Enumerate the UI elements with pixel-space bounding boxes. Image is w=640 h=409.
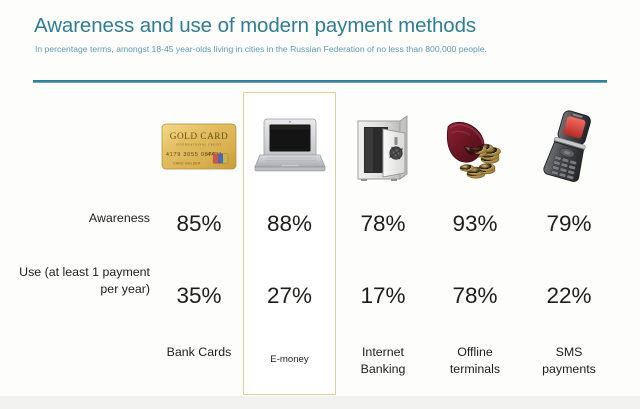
page-title: Awareness and use of modern payment meth… bbox=[34, 14, 476, 38]
name-cell: E-money bbox=[244, 342, 335, 392]
value-cell-use: 78% bbox=[430, 272, 520, 320]
value-use-bank-cards: 35% bbox=[156, 272, 242, 320]
column-offline-terminals: 93% 78% Offline terminals bbox=[430, 92, 520, 395]
value-use-internet-banking: 17% bbox=[339, 272, 427, 320]
value-use-e-money: 27% bbox=[244, 272, 335, 320]
column-label-sms-payments: SMS payments bbox=[522, 342, 616, 377]
coin-purse-icon bbox=[430, 100, 520, 192]
value-awareness-offline-terminals: 93% bbox=[430, 200, 520, 248]
value-cell-use: 27% bbox=[244, 272, 335, 320]
safe-vault-icon bbox=[339, 100, 427, 192]
name-cell: Bank Cards bbox=[156, 342, 242, 392]
value-cell-awareness: 78% bbox=[339, 200, 427, 248]
value-cell-use: 17% bbox=[339, 272, 427, 320]
column-label-internet-banking: Internet Banking bbox=[339, 342, 427, 377]
bottom-band bbox=[0, 396, 640, 409]
column-e-money: 88% 27% E-money bbox=[244, 92, 335, 395]
value-cell-awareness: 85% bbox=[156, 200, 242, 248]
column-sms-payments: 79% 22% SMS payments bbox=[522, 92, 616, 395]
icon-cell bbox=[522, 100, 616, 192]
flip-phone-icon bbox=[522, 100, 616, 192]
value-cell-use: 35% bbox=[156, 272, 242, 320]
value-use-sms-payments: 22% bbox=[522, 272, 616, 320]
value-awareness-internet-banking: 78% bbox=[339, 200, 427, 248]
value-awareness-bank-cards: 85% bbox=[156, 200, 242, 248]
gold-credit-card-icon: GOLD CARD INTERNATIONAL CREDIT 4179 3055… bbox=[156, 100, 242, 192]
header-divider bbox=[33, 80, 607, 83]
comparison-grid: Awareness Use (at least 1 payment per ye… bbox=[0, 92, 640, 395]
column-label-bank-cards: Bank Cards bbox=[156, 342, 242, 361]
value-cell-awareness: 79% bbox=[522, 200, 616, 248]
value-cell-awareness: 88% bbox=[244, 200, 335, 248]
row-label-awareness: Awareness bbox=[8, 210, 150, 227]
column-label-line1: Bank Cards bbox=[167, 345, 232, 359]
column-label-line1: SMS bbox=[556, 345, 583, 359]
value-cell-awareness: 93% bbox=[430, 200, 520, 248]
column-label-line1: Internet bbox=[362, 345, 404, 359]
column-label-line2: Banking bbox=[361, 362, 406, 376]
icon-cell bbox=[244, 100, 335, 192]
row-label-column: Awareness Use (at least 1 payment per ye… bbox=[8, 92, 156, 395]
column-label-line2: terminals bbox=[450, 362, 500, 376]
column-bank-cards: GOLD CARD INTERNATIONAL CREDIT 4179 3055… bbox=[156, 92, 242, 395]
name-cell: SMS payments bbox=[522, 342, 616, 392]
svg-text:CARD HOLDER: CARD HOLDER bbox=[173, 162, 201, 166]
value-awareness-e-money: 88% bbox=[244, 200, 335, 248]
svg-text:INTERNATIONAL CREDIT: INTERNATIONAL CREDIT bbox=[176, 143, 222, 147]
laptop-icon bbox=[244, 100, 335, 192]
column-label-line2: payments bbox=[542, 362, 596, 376]
slide-canvas: Awareness and use of modern payment meth… bbox=[0, 0, 640, 409]
column-internet-banking: 78% 17% Internet Banking bbox=[339, 92, 427, 395]
value-use-offline-terminals: 78% bbox=[430, 272, 520, 320]
icon-cell bbox=[339, 100, 427, 192]
column-label-line1: Offline bbox=[457, 345, 493, 359]
row-label-use: Use (at least 1 payment per year) bbox=[8, 264, 150, 297]
svg-text:GOLD CARD: GOLD CARD bbox=[170, 132, 228, 142]
name-cell: Offline terminals bbox=[430, 342, 520, 392]
page-subtitle: In percentage terms, amongst 18-45 year-… bbox=[35, 44, 487, 54]
value-awareness-sms-payments: 79% bbox=[522, 200, 616, 248]
column-label-line1: E-money bbox=[270, 354, 308, 365]
value-cell-use: 22% bbox=[522, 272, 616, 320]
icon-cell bbox=[430, 100, 520, 192]
column-label-e-money: E-money bbox=[244, 342, 335, 368]
column-label-offline-terminals: Offline terminals bbox=[430, 342, 520, 377]
name-cell: Internet Banking bbox=[339, 342, 427, 392]
icon-cell: GOLD CARD INTERNATIONAL CREDIT 4179 3055… bbox=[156, 100, 242, 192]
